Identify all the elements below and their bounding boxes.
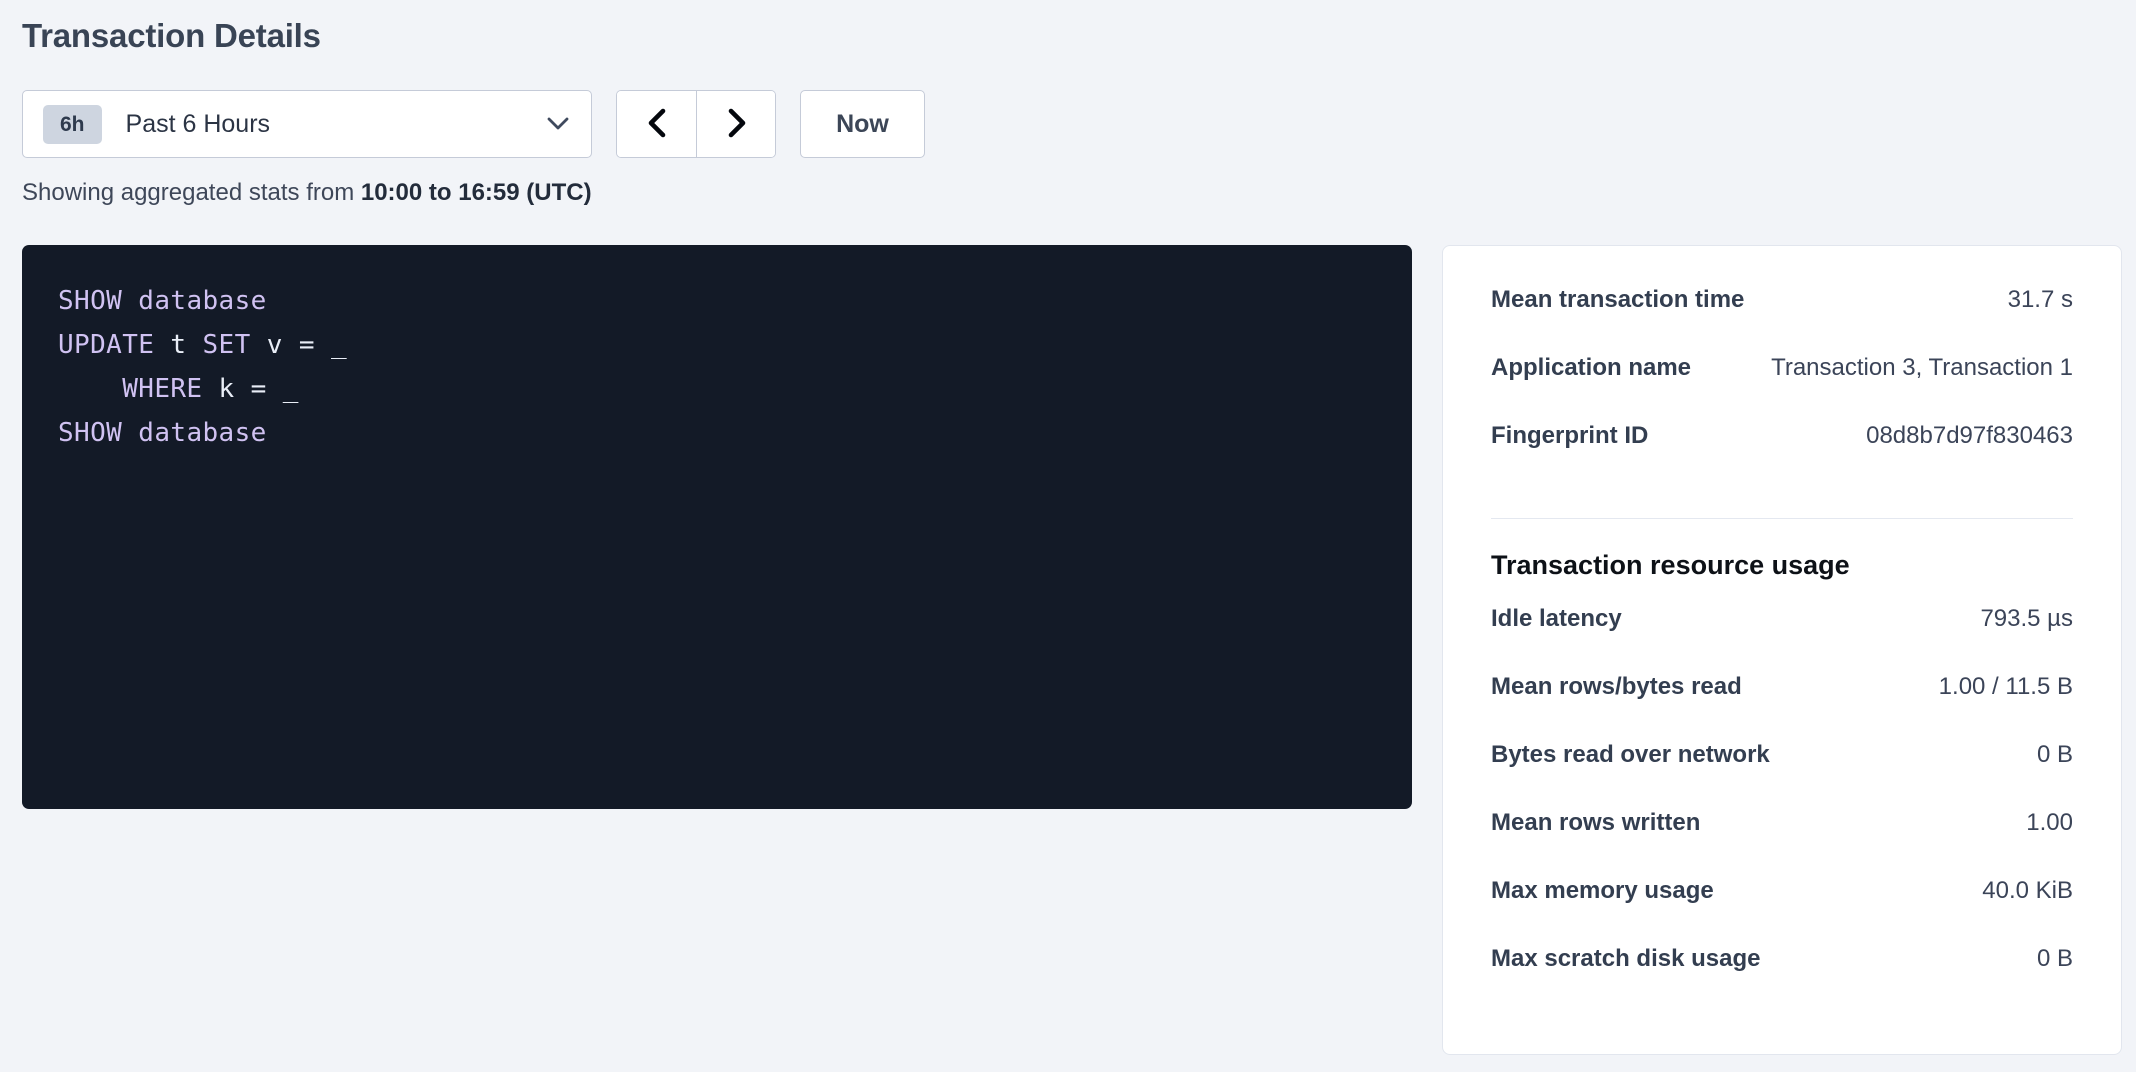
time-range-toolbar: 6h Past 6 Hours	[22, 90, 925, 158]
previous-period-button[interactable]	[617, 91, 696, 157]
time-range-badge: 6h	[43, 105, 102, 144]
transaction-details-page: Transaction Details 6h Past 6 Hours	[0, 0, 2136, 1072]
showing-prefix: Showing aggregated stats from	[22, 179, 361, 206]
resource-usage-title: Transaction resource usage	[1491, 549, 2073, 581]
stat-value: 08d8b7d97f830463	[1866, 422, 2073, 450]
sql-keyword: database	[138, 286, 266, 316]
stat-row: Mean rows written1.00	[1491, 809, 2073, 877]
stat-row: Mean transaction time31.7 s	[1491, 286, 2073, 354]
time-nav-group	[616, 90, 776, 158]
stat-row: Bytes read over network0 B	[1491, 741, 2073, 809]
stat-label: Idle latency	[1491, 605, 1622, 633]
resource-stats-list: Idle latency793.5 µsMean rows/bytes read…	[1491, 605, 2073, 1013]
stat-label: Application name	[1491, 354, 1691, 382]
time-range-select[interactable]: 6h Past 6 Hours	[22, 90, 592, 158]
sql-identifier: v = _	[251, 330, 347, 360]
summary-stats-list: Mean transaction time31.7 sApplication n…	[1491, 286, 2073, 490]
sql-keyword: database	[138, 418, 266, 448]
stat-value: 0 B	[2037, 945, 2073, 973]
stat-row: Max memory usage40.0 KiB	[1491, 877, 2073, 945]
showing-range-text: Showing aggregated stats from 10:00 to 1…	[22, 178, 592, 208]
stat-label: Max memory usage	[1491, 877, 1714, 905]
stat-label: Mean rows written	[1491, 809, 1700, 837]
stat-value: 0 B	[2037, 741, 2073, 769]
stat-label: Mean transaction time	[1491, 286, 1744, 314]
showing-range-value: 10:00 to 16:59 (UTC)	[361, 179, 592, 206]
page-title: Transaction Details	[22, 16, 321, 56]
sql-identifier: k = _	[203, 374, 299, 404]
stat-value: Transaction 3, Transaction 1	[1771, 354, 2073, 382]
chevron-right-icon	[723, 107, 749, 142]
stat-label: Fingerprint ID	[1491, 422, 1648, 450]
sql-keyword: SET	[203, 330, 251, 360]
stat-label: Bytes read over network	[1491, 741, 1770, 769]
sql-identifier	[122, 286, 138, 316]
transaction-stats-card: Mean transaction time31.7 sApplication n…	[1442, 245, 2122, 1055]
stat-value: 1.00 / 11.5 B	[1939, 673, 2073, 701]
sql-statement-text: SHOW database UPDATE t SET v = _ WHERE k…	[58, 279, 1376, 455]
stat-row: Mean rows/bytes read1.00 / 11.5 B	[1491, 673, 2073, 741]
time-range-label: Past 6 Hours	[126, 112, 547, 137]
now-button[interactable]: Now	[800, 90, 925, 158]
stat-row: Application nameTransaction 3, Transacti…	[1491, 354, 2073, 422]
stat-value: 1.00	[2026, 809, 2073, 837]
stat-label: Max scratch disk usage	[1491, 945, 1760, 973]
stat-value: 31.7 s	[2008, 286, 2073, 314]
chevron-left-icon	[644, 107, 670, 142]
stat-row: Fingerprint ID08d8b7d97f830463	[1491, 422, 2073, 490]
stat-value: 40.0 KiB	[1982, 877, 2073, 905]
stat-value: 793.5 µs	[1980, 605, 2073, 633]
section-divider	[1491, 518, 2073, 519]
sql-keyword: SHOW	[58, 286, 122, 316]
sql-identifier	[122, 418, 138, 448]
stat-row: Idle latency793.5 µs	[1491, 605, 2073, 673]
sql-keyword: UPDATE	[58, 330, 154, 360]
next-period-button[interactable]	[696, 91, 775, 157]
sql-statement-panel[interactable]: SHOW database UPDATE t SET v = _ WHERE k…	[22, 245, 1412, 809]
chevron-down-icon	[547, 117, 569, 131]
sql-keyword: SHOW	[58, 418, 122, 448]
sql-identifier	[58, 374, 122, 404]
stat-row: Max scratch disk usage0 B	[1491, 945, 2073, 1013]
sql-identifier: t	[154, 330, 202, 360]
stat-label: Mean rows/bytes read	[1491, 673, 1742, 701]
sql-keyword: WHERE	[122, 374, 202, 404]
